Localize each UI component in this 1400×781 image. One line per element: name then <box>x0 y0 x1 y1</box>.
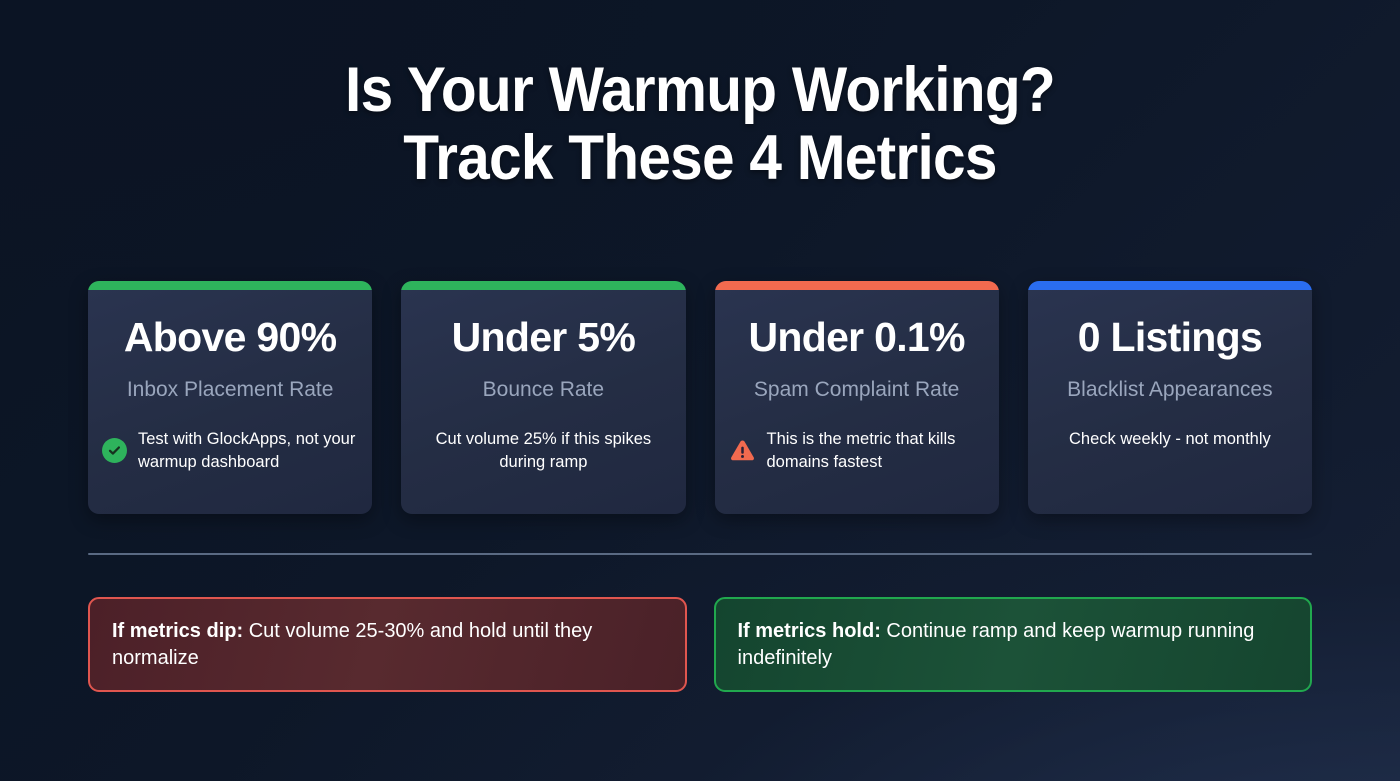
metric-card-inbox-placement-rate: Above 90% Inbox Placement Rate Test with… <box>88 281 372 514</box>
card-note: Cut volume 25% if this spikes during ram… <box>415 428 671 474</box>
callout-metrics-hold: If metrics hold: Continue ramp and keep … <box>714 597 1313 692</box>
infographic-page: Is Your Warmup Working? Track These 4 Me… <box>0 0 1400 781</box>
card-accent-bar <box>88 281 372 290</box>
callout-row: If metrics dip: Cut volume 25-30% and ho… <box>88 597 1312 692</box>
check-circle-icon <box>102 438 127 463</box>
card-note-text: This is the metric that kills domains fa… <box>767 428 985 474</box>
callout-prefix: If metrics hold: <box>738 620 881 642</box>
card-value: Under 5% <box>452 317 636 358</box>
card-label: Blacklist Appearances <box>1067 378 1272 402</box>
card-label: Bounce Rate <box>483 378 604 402</box>
title-line-2: Track These 4 Metrics <box>49 124 1351 192</box>
callout-prefix: If metrics dip: <box>112 620 243 642</box>
card-note-text: Test with GlockApps, not your warmup das… <box>138 428 358 474</box>
card-label: Spam Complaint Rate <box>754 378 959 402</box>
section-divider <box>88 553 1312 555</box>
card-accent-bar <box>1028 281 1312 290</box>
card-value: 0 Listings <box>1078 317 1262 358</box>
card-accent-bar <box>715 281 999 290</box>
card-label: Inbox Placement Rate <box>127 378 334 402</box>
metric-card-spam-complaint-rate: Under 0.1% Spam Complaint Rate This is t… <box>715 281 999 514</box>
page-title: Is Your Warmup Working? Track These 4 Me… <box>0 56 1400 192</box>
card-note-text: Check weekly - not monthly <box>1069 428 1271 451</box>
metric-card-blacklist-appearances: 0 Listings Blacklist Appearances Check w… <box>1028 281 1312 514</box>
card-value: Above 90% <box>124 317 336 358</box>
metric-card-bounce-rate: Under 5% Bounce Rate Cut volume 25% if t… <box>401 281 685 514</box>
callout-metrics-dip: If metrics dip: Cut volume 25-30% and ho… <box>88 597 687 692</box>
card-note-text: Cut volume 25% if this spikes during ram… <box>415 428 671 474</box>
card-value: Under 0.1% <box>748 317 964 358</box>
card-accent-bar <box>401 281 685 290</box>
title-line-1: Is Your Warmup Working? <box>49 56 1351 124</box>
card-note: Test with GlockApps, not your warmup das… <box>102 428 358 474</box>
card-note: Check weekly - not monthly <box>1042 428 1298 451</box>
card-note: This is the metric that kills domains fa… <box>729 428 985 474</box>
metric-card-row: Above 90% Inbox Placement Rate Test with… <box>88 281 1312 514</box>
warning-triangle-icon <box>729 438 756 463</box>
